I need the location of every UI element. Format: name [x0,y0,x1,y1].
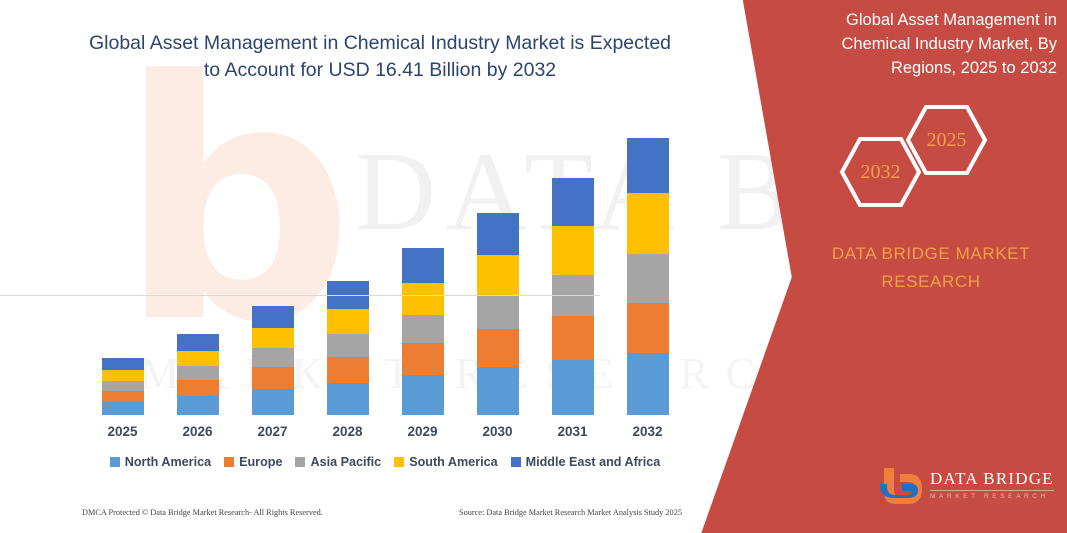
bar-segment [252,389,294,415]
bar-segment [477,213,519,255]
hexagon-end-year: 2032 [839,136,922,208]
bar-segment [177,396,219,415]
bar-segment [102,370,144,381]
legend-label: South America [409,455,497,469]
bar-segment [552,360,594,415]
bar-segment [552,178,594,226]
bar-segment [327,309,369,334]
bar-segment [102,391,144,402]
bar-segment [627,193,669,254]
stacked-bar [102,358,144,415]
stacked-bar [477,213,519,415]
bar-segment [402,315,444,343]
bar-segment [177,351,219,366]
bar-segment [252,328,294,348]
bar-segment [252,367,294,389]
logo-text: DATA BRIDGE MARKET RESEARCH [930,470,1054,501]
bar-column [475,120,521,415]
chart-legend: North AmericaEuropeAsia PacificSouth Ame… [85,455,685,469]
bar-segment [177,366,219,380]
x-tick-label: 2029 [400,424,446,439]
bar-segment [477,329,519,367]
x-tick-label: 2026 [175,424,221,439]
infographic-canvas: b DATA BRIDGE MARKET RESEARCH Global Ass… [0,0,1067,533]
stacked-bar [552,178,594,415]
bar-segment [252,348,294,367]
bar-segment [552,226,594,275]
bar-segment [327,383,369,415]
legend-item: Europe [224,455,282,469]
bar-segment [177,380,219,396]
bar-segment [477,367,519,415]
x-tick-label: 2031 [550,424,596,439]
stacked-bar-chart [85,120,685,415]
x-tick-label: 2027 [250,424,296,439]
bar-segment [552,316,594,360]
bar-segment [102,381,144,391]
footer: DMCA Protected © Data Bridge Market Rese… [82,508,682,517]
chart-plot-area [85,120,685,415]
bar-column [400,120,446,415]
stacked-bar [627,138,669,415]
page-title: Global Asset Management in Chemical Indu… [80,30,680,84]
bar-segment [477,295,519,329]
bar-segment [627,303,669,353]
bar-segment [327,357,369,383]
x-tick-label: 2032 [625,424,671,439]
hexagon-start-year-label: 2025 [927,129,967,152]
bar-column [325,120,371,415]
stacked-bar [252,306,294,415]
bar-segment [252,306,294,328]
stacked-bar [177,334,219,415]
legend-swatch-icon [511,457,521,467]
legend-label: Europe [239,455,282,469]
legend-label: North America [125,455,211,469]
legend-swatch-icon [110,457,120,467]
chart-x-axis [0,295,600,296]
logo-divider [930,490,1054,491]
bar-segment [627,138,669,193]
bar-segment [402,375,444,415]
bar-segment [102,358,144,370]
bar-segment [327,334,369,357]
year-hexagons: 2025 2032 [822,100,1022,210]
logo-line1: DATA BRIDGE [930,470,1054,487]
bar-segment [402,283,444,315]
bar-segment [627,254,669,303]
bar-segment [102,402,144,415]
bar-column [100,120,146,415]
data-bridge-b-mark-icon [878,464,922,506]
brand-name: DATA BRIDGE MARKET RESEARCH [800,240,1062,296]
bar-column [625,120,671,415]
legend-swatch-icon [394,457,404,467]
x-tick-label: 2025 [100,424,146,439]
bar-segment [177,334,219,351]
x-tick-label: 2028 [325,424,371,439]
hexagon-end-year-label: 2032 [861,161,901,184]
bar-segment [402,248,444,283]
legend-item: Middle East and Africa [511,455,661,469]
x-tick-label: 2030 [475,424,521,439]
bar-column [550,120,596,415]
legend-label: Middle East and Africa [526,455,661,469]
right-panel-title: Global Asset Management in Chemical Indu… [795,8,1057,80]
bar-segment [402,343,444,375]
bar-segment [477,255,519,295]
footer-copyright: DMCA Protected © Data Bridge Market Rese… [82,508,323,517]
legend-swatch-icon [224,457,234,467]
legend-item: North America [110,455,211,469]
legend-item: Asia Pacific [295,455,381,469]
chart-x-tick-labels: 20252026202720282029203020312032 [85,424,685,439]
footer-source: Source: Data Bridge Market Research Mark… [459,508,682,517]
stacked-bar [327,281,369,415]
bar-segment [627,353,669,415]
legend-item: South America [394,455,497,469]
bar-column [250,120,296,415]
company-logo: DATA BRIDGE MARKET RESEARCH [878,462,1058,508]
legend-swatch-icon [295,457,305,467]
stacked-bar [402,248,444,415]
logo-line2: MARKET RESEARCH [930,494,1054,501]
bar-column [175,120,221,415]
legend-label: Asia Pacific [310,455,381,469]
